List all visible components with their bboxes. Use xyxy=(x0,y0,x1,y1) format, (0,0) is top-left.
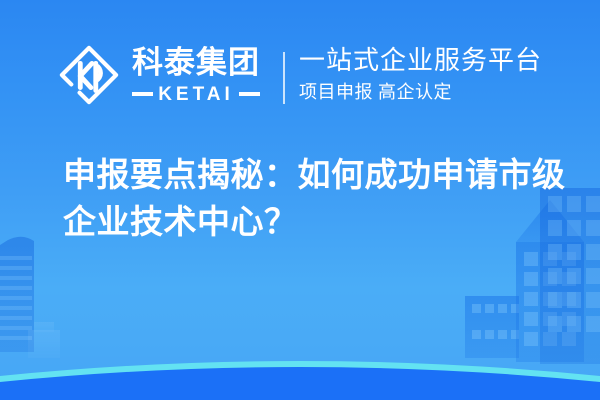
tagline-main: 一站式企业服务平台 xyxy=(299,46,542,76)
tagline-sub: 项目申报 高企认定 xyxy=(299,82,542,104)
promo-banner: 科泰集团 KETAI 一站式企业服务平台 项目申报 高企认定 申报要点揭秘：如何… xyxy=(0,0,600,400)
logo-dash-left xyxy=(132,92,153,96)
brand-logo[interactable]: 科泰集团 KETAI xyxy=(58,44,260,106)
logo-dash-right xyxy=(239,92,260,96)
bottom-curve-decoration xyxy=(0,310,600,400)
ketai-diamond-kp-monogram-icon xyxy=(58,44,120,106)
page-title: 申报要点揭秘：如何成功申请市级 企业技术中心？ xyxy=(63,152,563,246)
logo-wordmark: 科泰集团 KETAI xyxy=(132,47,260,104)
page-title-line-1: 申报要点揭秘：如何成功申请市级 xyxy=(63,152,563,199)
page-title-line-2: 企业技术中心？ xyxy=(63,199,563,246)
header-divider xyxy=(283,52,285,104)
logo-company-en: KETAI xyxy=(158,85,234,104)
logo-company-en-row: KETAI xyxy=(132,85,260,104)
tagline-block: 一站式企业服务平台 项目申报 高企认定 xyxy=(299,46,542,103)
logo-company-cn: 科泰集团 xyxy=(132,47,260,78)
banner-header: 科泰集团 KETAI 一站式企业服务平台 项目申报 高企认定 xyxy=(0,0,600,140)
